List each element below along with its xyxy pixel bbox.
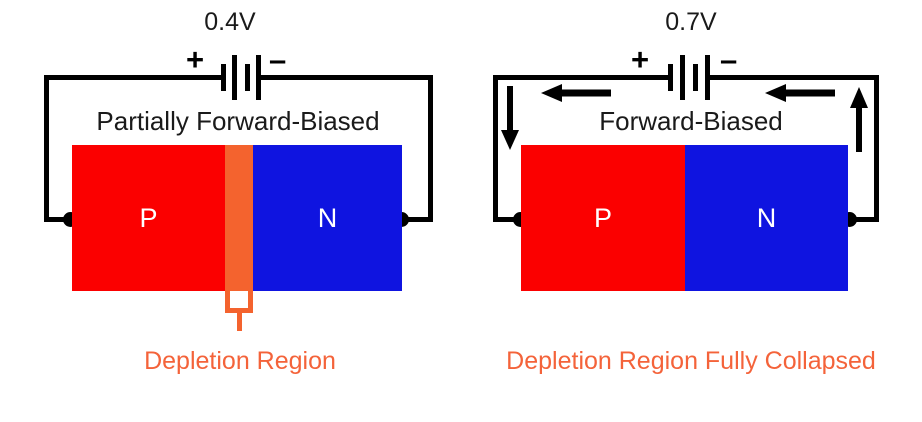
voltage-label: 0.7V xyxy=(641,8,741,37)
current-arrow-left-down xyxy=(499,84,523,154)
battery-plus-sign: + xyxy=(186,44,204,75)
battery-plus-sign: + xyxy=(631,44,649,75)
battery-plate-negative-outer xyxy=(256,55,261,100)
p-region-label: P xyxy=(521,203,685,234)
wire-left-vertical xyxy=(493,75,498,222)
battery-minus-sign: – xyxy=(269,44,286,75)
depletion-collapsed-caption: Depletion Region Fully Collapsed xyxy=(471,347,911,376)
battery-plate-positive-outer xyxy=(668,64,673,91)
current-arrow-top-left xyxy=(537,82,613,106)
n-region-label: N xyxy=(685,203,848,234)
battery-plate-negative-inner-1 xyxy=(680,55,685,100)
battery-plate-positive-inner-2 xyxy=(245,64,250,91)
wire-right-vertical xyxy=(428,75,433,222)
bias-label: Forward-Biased xyxy=(521,106,861,137)
p-region-label: P xyxy=(72,203,225,234)
wire-top-right xyxy=(705,75,879,80)
diagram-canvas: 0.4V + – Partially Forward-Biased P N xyxy=(0,0,922,422)
battery-plate-positive-inner-2 xyxy=(693,64,698,91)
wire-top-left xyxy=(493,75,668,80)
voltage-label: 0.4V xyxy=(180,8,280,37)
wire-top-right xyxy=(256,75,433,80)
panel-forward-biased: 0.7V + – xyxy=(461,0,922,422)
depletion-region-caption: Depletion Region xyxy=(40,347,440,376)
battery-plate-negative-inner-1 xyxy=(232,55,237,100)
depletion-bracket-stem xyxy=(237,308,242,331)
depletion-region-block xyxy=(225,145,253,291)
wire-left-vertical xyxy=(44,75,49,222)
n-region-label: N xyxy=(253,203,402,234)
wire-right-vertical xyxy=(874,75,879,222)
battery-minus-sign: – xyxy=(720,44,737,75)
battery-plate-positive-outer xyxy=(221,64,226,91)
battery-plate-negative-outer xyxy=(705,55,710,100)
wire-top-left xyxy=(44,75,221,80)
current-arrow-top-right xyxy=(761,82,837,106)
bias-label: Partially Forward-Biased xyxy=(48,106,428,137)
panel-partially-forward-biased: 0.4V + – Partially Forward-Biased P N xyxy=(0,0,461,422)
